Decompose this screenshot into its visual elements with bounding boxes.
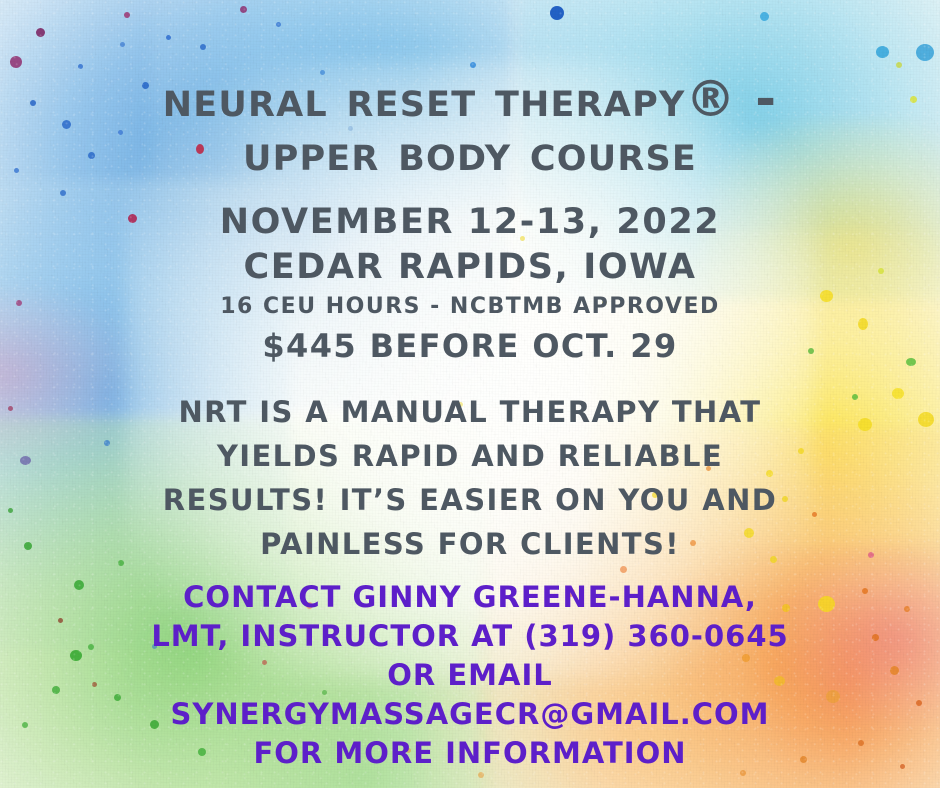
course-price: $445 BEFORE OCT. 29 bbox=[0, 324, 940, 368]
contact-name-line: CONTACT GINNY GREENE-HANNA, bbox=[110, 578, 830, 617]
title-line-1: Neural Reset Therapy® - bbox=[0, 72, 940, 126]
description-line: YIELDS RAPID AND RELIABLE bbox=[120, 434, 820, 478]
course-date: NOVEMBER 12-13, 2022 bbox=[0, 200, 940, 245]
contact-phone-line[interactable]: LMT, INSTRUCTOR AT (319) 360-0645 bbox=[110, 617, 830, 656]
flyer-title: Neural Reset Therapy® - Upper Body Cours… bbox=[0, 72, 940, 180]
title-line-2: Upper Body Course bbox=[0, 126, 940, 180]
contact-email-line[interactable]: SYNERGYMASSAGECR@GMAIL.COM bbox=[110, 695, 830, 734]
course-ceu-info: 16 CEU HOURS - NCBTMB APPROVED bbox=[0, 290, 940, 324]
watercolor-course-flyer: Neural Reset Therapy® - Upper Body Cours… bbox=[0, 0, 940, 788]
description-line: RESULTS! IT’S EASIER ON YOU AND bbox=[120, 478, 820, 522]
contact-or-email-label: OR EMAIL bbox=[110, 656, 830, 695]
flyer-content: Neural Reset Therapy® - Upper Body Cours… bbox=[0, 0, 940, 788]
description-line: NRT IS A MANUAL THERAPY THAT bbox=[120, 390, 820, 434]
description-line: PAINLESS FOR CLIENTS! bbox=[120, 522, 820, 566]
course-location: CEDAR RAPIDS, IOWA bbox=[0, 245, 940, 290]
contact-footer-line: FOR MORE INFORMATION bbox=[110, 734, 830, 773]
course-details: NOVEMBER 12-13, 2022 CEDAR RAPIDS, IOWA … bbox=[0, 200, 940, 368]
contact-information: CONTACT GINNY GREENE-HANNA, LMT, INSTRUC… bbox=[110, 578, 830, 773]
course-description: NRT IS A MANUAL THERAPY THAT YIELDS RAPI… bbox=[120, 390, 820, 566]
